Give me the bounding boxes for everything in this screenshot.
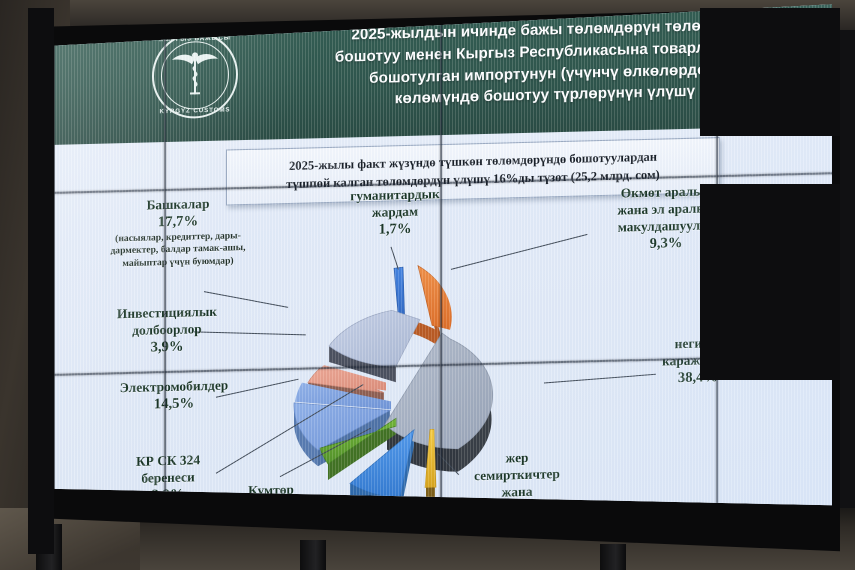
- wall-edge-left: [28, 8, 54, 554]
- winged-caduceus-icon: [152, 45, 238, 108]
- seal-text-bottom: KYRGYZ CUSTOMS: [152, 106, 238, 115]
- label-investiciyalyk-percent: 3,9%: [92, 336, 242, 358]
- unlit-panel-mid-right: [700, 184, 840, 380]
- kyrgyz-customs-seal-icon: КЫРГЫЗ БАЖЫСЫ KYRGYZ CUSTOMS: [152, 31, 238, 119]
- label-gumanitardyk-percent: 1,7%: [332, 219, 458, 241]
- label-gumanitardyk-line1: гуманитардык: [332, 185, 458, 205]
- label-gumanitardyk: гуманитардык жардам 1,7%: [332, 185, 458, 241]
- label-investiciyalyk: Инвестициялык долбоорлор 3,9%: [92, 302, 242, 358]
- video-wall[interactable]: КЫРГЫЗ БАЖЫСЫ KYRGYZ CUSTOMS: [28, 8, 840, 554]
- label-bashkalar: Башкалар 17,7% (насыялар, кредиттер, дар…: [98, 194, 258, 272]
- unlit-panel-top-right: [700, 8, 840, 136]
- label-bashkalar-sub: (насыялар, кредиттер, дары-дармектер, ба…: [98, 229, 258, 271]
- label-elektromobilder: Электромобилдер 14,5%: [94, 376, 254, 416]
- label-elektromobilder-percent: 14,5%: [94, 393, 254, 416]
